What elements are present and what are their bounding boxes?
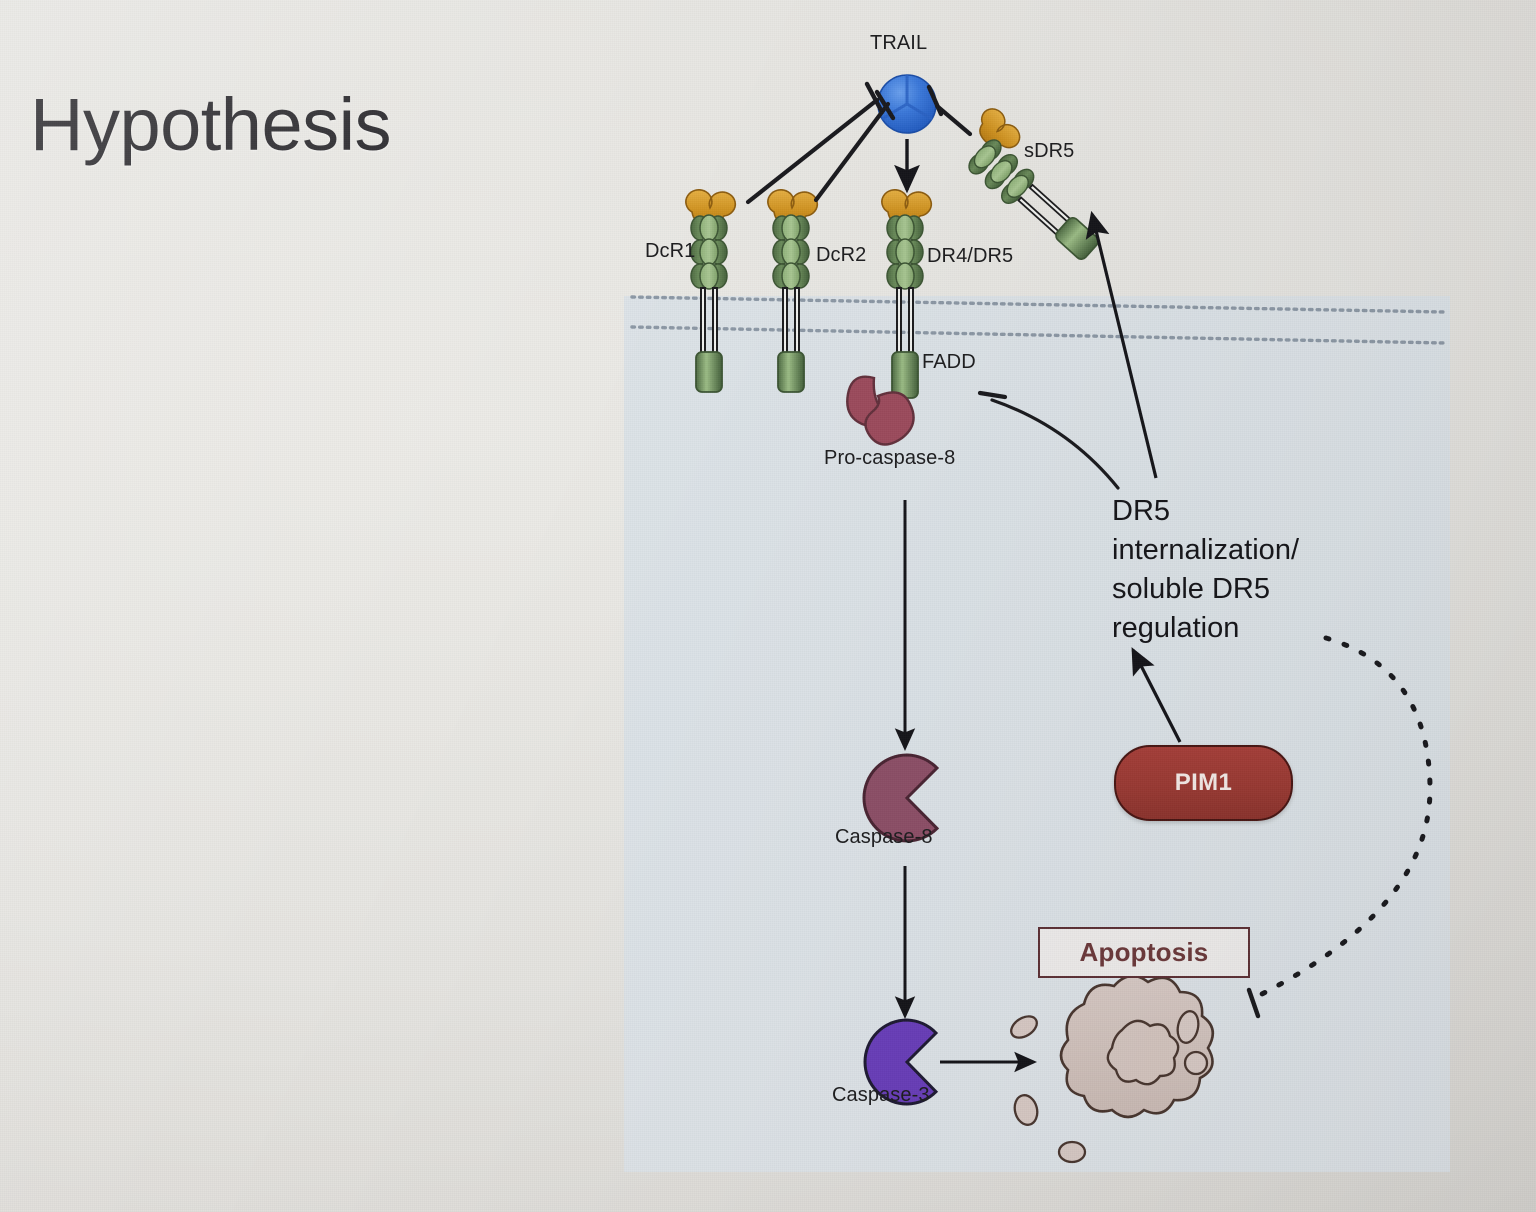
pathway-figure: TRAIL sDR5 DcR1 DcR2 DR4/DR5 FADD Pro-ca… xyxy=(624,0,1450,1172)
annotation-line-3: soluble DR5 xyxy=(1112,570,1372,609)
annotation-line-4: regulation xyxy=(1112,609,1372,648)
label-pro-caspase-8: Pro-caspase-8 xyxy=(824,447,955,470)
apoptosis-label: Apoptosis xyxy=(1080,937,1209,968)
pim1-node[interactable]: PIM1 xyxy=(1114,745,1293,821)
edge-dr5reg-inhibits-apoptosis-dashed xyxy=(1249,638,1430,1016)
label-dcr2: DcR2 xyxy=(816,244,866,267)
slide-surface: Hypothesis xyxy=(0,0,1536,1212)
plasma-membrane xyxy=(632,297,1444,343)
edge-dr5reg-to-sdr5 xyxy=(1092,214,1156,478)
label-trail: TRAIL xyxy=(870,32,927,55)
edge-dr5reg-inhibits-disc xyxy=(980,393,1118,488)
label-caspase-8: Caspase-8 xyxy=(835,826,933,849)
apoptosis-outcome-box: Apoptosis xyxy=(1038,927,1250,978)
page-title: Hypothesis xyxy=(30,88,391,162)
receptor-dcr1 xyxy=(686,190,735,392)
annotation-dr5-regulation: DR5 internalization/ soluble DR5 regulat… xyxy=(1112,492,1372,647)
label-sdr5: sDR5 xyxy=(1024,140,1074,163)
fadd-domain xyxy=(892,352,918,398)
edge-pim1-to-dr5reg xyxy=(1133,650,1180,742)
label-dr4-dr5: DR4/DR5 xyxy=(927,245,1013,268)
receptor-dcr2 xyxy=(768,190,817,392)
label-fadd: FADD xyxy=(922,351,976,374)
soluble-receptor-sdr5 xyxy=(949,104,1120,267)
apoptotic-cell xyxy=(1007,976,1212,1162)
label-caspase-3: Caspase-3 xyxy=(832,1084,930,1107)
annotation-line-2: internalization/ xyxy=(1112,531,1372,570)
label-dcr1: DcR1 xyxy=(645,240,695,263)
annotation-line-1: DR5 xyxy=(1112,492,1372,531)
edge-dcr1-inhibits-trail xyxy=(748,84,882,202)
pim1-label: PIM1 xyxy=(1175,769,1233,797)
